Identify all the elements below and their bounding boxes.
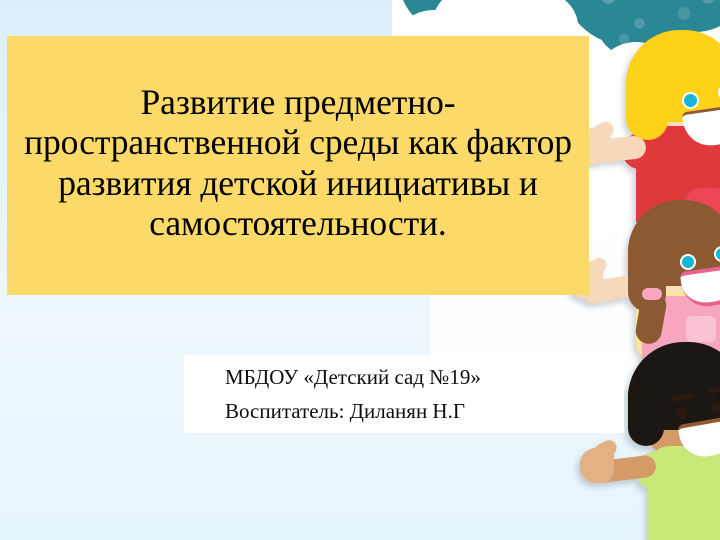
children-illustration	[570, 0, 720, 540]
title-card: Развитие предметно-пространственной сред…	[7, 36, 589, 295]
subtitle-line-organization: МБДОУ «Детский сад №19»	[225, 360, 625, 394]
eye-left	[676, 408, 687, 419]
page-title: Развитие предметно-пространственной сред…	[21, 82, 575, 243]
eye-left	[684, 94, 697, 107]
presentation-slide: Развитие предметно-пространственной сред…	[0, 0, 720, 540]
overalls-pocket	[686, 316, 716, 342]
eye-left	[682, 256, 694, 268]
dark-hair-side	[628, 376, 664, 446]
hair-tie	[642, 288, 662, 300]
blonde-hair-side	[626, 66, 668, 140]
subtitle-block: МБДОУ «Детский сад №19» Воспитатель: Дил…	[225, 360, 625, 428]
eye-right	[712, 402, 720, 413]
subtitle-line-author: Воспитатель: Диланян Н.Г	[225, 394, 625, 428]
